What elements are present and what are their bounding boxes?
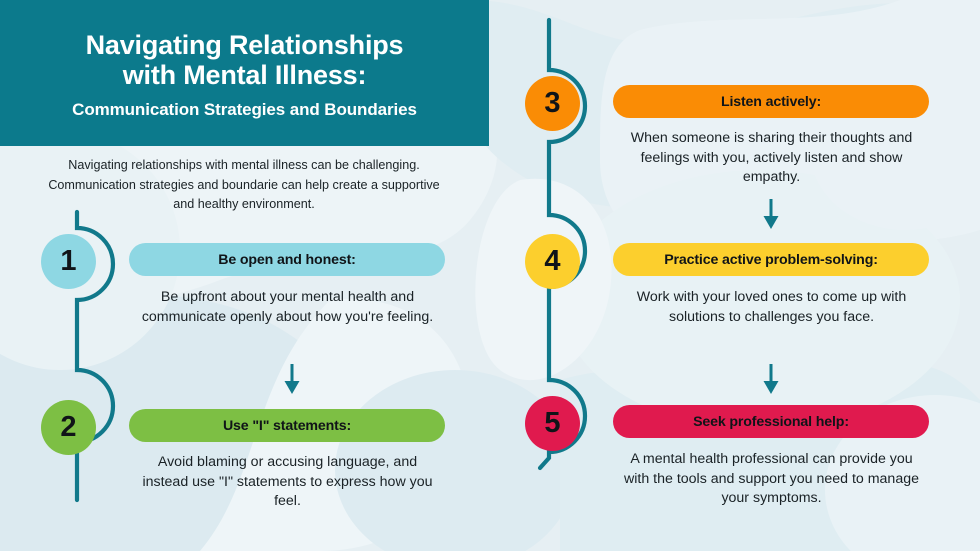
step-3-heading-pill: Listen actively: — [613, 85, 929, 118]
page-title: Navigating Relationships with Mental Ill… — [86, 30, 404, 90]
header-banner: Navigating Relationships with Mental Ill… — [0, 0, 489, 146]
intro-paragraph: Navigating relationships with mental ill… — [44, 156, 444, 215]
step-1-number: 1 — [60, 245, 76, 278]
step-2-heading: Use "I" statements: — [223, 418, 351, 434]
step-4-heading: Practice active problem-solving: — [664, 252, 878, 268]
step-4-heading-pill: Practice active problem-solving: — [613, 243, 929, 276]
step-4-number-circle: 4 — [525, 234, 580, 289]
step-2-body: Avoid blaming or accusing language, and … — [140, 453, 435, 512]
step-3-heading: Listen actively: — [721, 94, 821, 110]
step-2-number-circle: 2 — [41, 400, 96, 455]
step-5-heading-pill: Seek professional help: — [613, 405, 929, 438]
step-1-heading-pill: Be open and honest: — [129, 243, 445, 276]
step-4-number: 4 — [544, 245, 560, 278]
step-5-body: A mental health professional can provide… — [624, 450, 919, 509]
step-5-number: 5 — [544, 407, 560, 440]
page-title-line1: Navigating Relationships — [86, 30, 404, 60]
step-3-body: When someone is sharing their thoughts a… — [624, 129, 919, 188]
step-5-number-circle: 5 — [525, 396, 580, 451]
page-title-line2: with Mental Illness: — [123, 60, 367, 90]
infographic-canvas: Navigating Relationships with Mental Ill… — [0, 0, 980, 551]
page-subtitle: Communication Strategies and Boundaries — [72, 100, 417, 120]
arrow-down-icon-1 — [279, 363, 305, 397]
step-3-number: 3 — [544, 87, 560, 120]
arrow-down-icon-3 — [758, 198, 784, 232]
step-5-heading: Seek professional help: — [693, 414, 849, 430]
arrow-down-icon-4 — [758, 363, 784, 397]
step-1-body: Be upfront about your mental health and … — [140, 288, 435, 327]
step-1-number-circle: 1 — [41, 234, 96, 289]
step-2-heading-pill: Use "I" statements: — [129, 409, 445, 442]
step-3-number-circle: 3 — [525, 76, 580, 131]
step-4-body: Work with your loved ones to come up wit… — [624, 288, 919, 327]
step-1-heading: Be open and honest: — [218, 252, 355, 268]
step-2-number: 2 — [60, 411, 76, 444]
